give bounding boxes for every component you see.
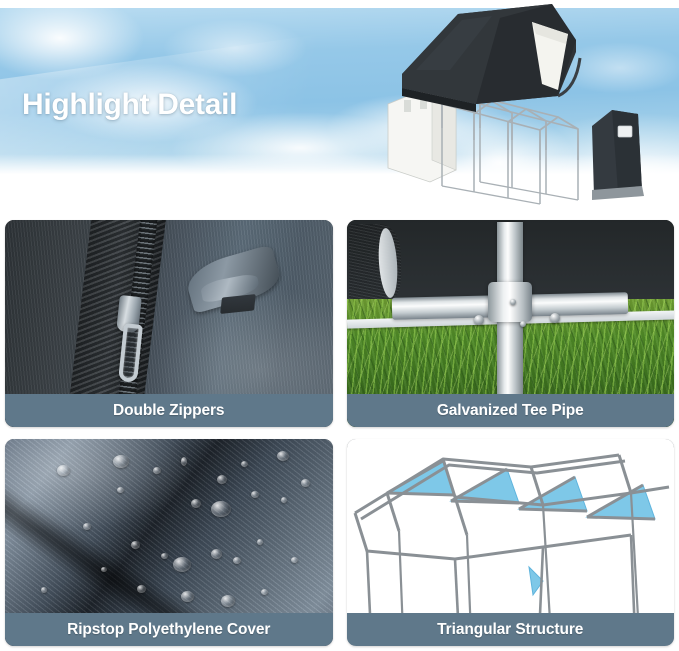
water-droplet: [161, 553, 168, 559]
water-droplet: [131, 541, 140, 549]
water-droplet: [251, 491, 259, 498]
water-droplet: [261, 589, 268, 595]
water-droplet: [301, 479, 310, 487]
infographic-page: Highlight Detail: [0, 0, 679, 651]
water-droplet: [277, 451, 289, 461]
feature-card-ripstop-cover[interactable]: Ripstop Polyethylene Cover: [5, 439, 333, 646]
water-droplet: [181, 591, 194, 602]
water-droplet: [233, 557, 241, 564]
water-droplet: [211, 549, 222, 559]
dark-end-panel-with-window: [592, 110, 644, 200]
water-droplet: [173, 557, 191, 572]
water-droplet: [191, 499, 201, 508]
water-droplet: [181, 457, 187, 466]
water-droplet: [41, 587, 47, 593]
exploded-shed-assembly: [380, 0, 679, 205]
card-caption: Double Zippers: [5, 394, 333, 427]
water-droplet: [241, 461, 248, 467]
card-caption: Triangular Structure: [347, 613, 675, 646]
water-droplet: [137, 585, 146, 593]
card-caption: Galvanized Tee Pipe: [347, 394, 675, 427]
water-droplet: [281, 497, 287, 503]
highlighted-triangles: [387, 461, 655, 595]
water-droplet: [221, 595, 235, 607]
feature-card-double-zippers[interactable]: Double Zippers: [5, 220, 333, 427]
water-droplet: [257, 539, 263, 545]
water-droplet: [217, 475, 227, 484]
hero-banner: Highlight Detail: [0, 8, 679, 176]
outer-cover-canopy: [402, 4, 580, 112]
water-droplet: [211, 501, 231, 517]
water-droplet: [153, 467, 161, 474]
feature-card-grid: Double Zippers Galvanized Tee Pipe: [5, 220, 674, 646]
page-title: Highlight Detail: [22, 88, 237, 122]
water-droplet: [291, 557, 298, 563]
water-droplet: [57, 465, 70, 476]
water-droplet: [113, 455, 129, 468]
bolt-icon: [510, 299, 516, 305]
bolt-icon: [550, 313, 560, 323]
water-droplet: [83, 523, 91, 530]
card-caption: Ripstop Polyethylene Cover: [5, 613, 333, 646]
water-droplet: [117, 487, 124, 493]
feature-card-triangular-structure[interactable]: Triangular Structure: [347, 439, 675, 646]
water-droplet: [101, 567, 107, 572]
feature-card-galvanized-tee-pipe[interactable]: Galvanized Tee Pipe: [347, 220, 675, 427]
